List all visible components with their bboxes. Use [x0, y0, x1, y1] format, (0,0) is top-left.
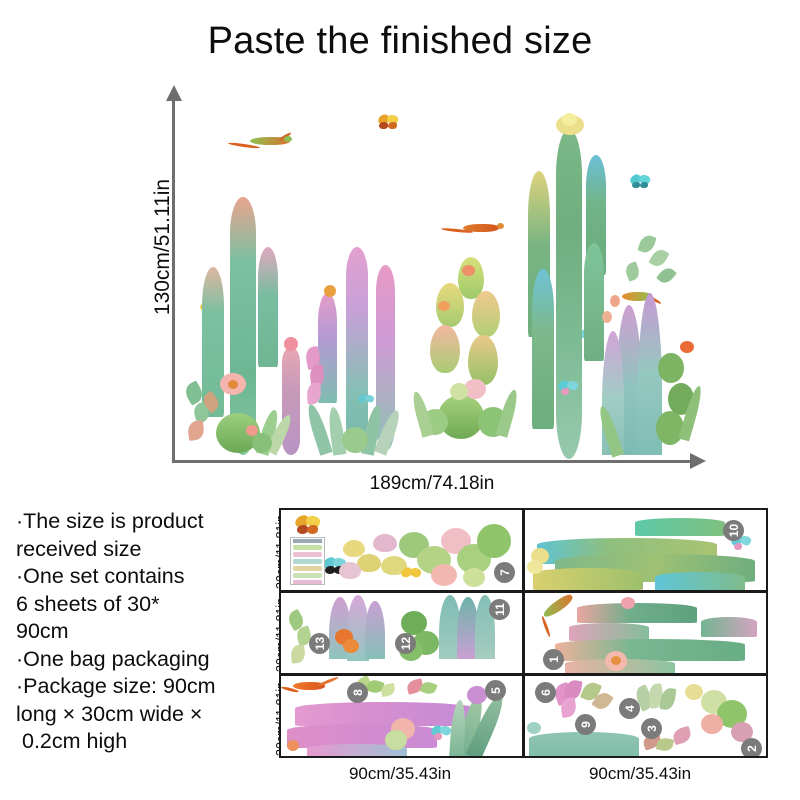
- product-info-text: ·The size is product received size ·One …: [16, 508, 266, 756]
- sheet-badge: 1: [543, 649, 564, 670]
- sheet-badge: 4: [619, 698, 640, 719]
- sheet-width-label: 90cm/35.43in: [300, 764, 500, 784]
- info-line: 6 sheets of 30*: [16, 591, 266, 619]
- preview-thumbnail-icon: [290, 537, 325, 585]
- info-line: ·One set contains: [16, 563, 266, 591]
- info-line: ·Package size: 90cm: [16, 673, 266, 701]
- page-title: Paste the finished size: [0, 20, 800, 63]
- sheet-badge: 9: [575, 714, 596, 735]
- sheet-7[interactable]: 7: [281, 510, 522, 590]
- cactus-group-pink: [306, 247, 426, 459]
- sheet-width-label: 90cm/35.43in: [540, 764, 740, 784]
- horizontal-axis-line: [172, 460, 694, 463]
- info-line: 0.2cm high: [16, 728, 266, 756]
- sheet-badge: 7: [494, 562, 515, 583]
- sheet-badge: 5: [485, 680, 506, 701]
- info-line: received size: [16, 536, 266, 564]
- sheets-layout-grid: 7 10 13 12 11: [279, 508, 768, 758]
- info-line: ·The size is product: [16, 508, 266, 536]
- sheet-badge: 13: [309, 633, 330, 654]
- sheet-10[interactable]: 10: [525, 510, 766, 590]
- sheet-badge: 8: [347, 682, 368, 703]
- cactus-group-left: [186, 197, 316, 459]
- info-line: long × 30cm wide ×: [16, 701, 266, 729]
- vertical-dimension-label: 130cm/51.11in: [151, 162, 175, 332]
- cactus-group-right: [602, 235, 698, 459]
- sheet-11-12-13[interactable]: 13 12 11: [281, 593, 522, 673]
- sheet-badge: 6: [535, 682, 556, 703]
- sheet-5-8[interactable]: 8 5: [281, 676, 522, 756]
- sheet-badge: 12: [395, 633, 416, 654]
- cactus-scene-illustration: [178, 97, 694, 459]
- finished-size-diagram: 130cm/51.11in 189cm/74.18in: [130, 85, 710, 490]
- sheet-1[interactable]: 1: [525, 593, 766, 673]
- sheet-2-3-4-6-9[interactable]: 6 9 4 3 2: [525, 676, 766, 756]
- info-line: 90cm: [16, 618, 266, 646]
- info-line: ·One bag packaging: [16, 646, 266, 674]
- sheet-badge: 10: [723, 520, 744, 541]
- sheet-badge: 2: [741, 738, 762, 756]
- sheet-badge: 11: [489, 599, 510, 620]
- horizontal-dimension-label: 189cm/74.18in: [172, 473, 692, 495]
- sheet-badge: 3: [641, 718, 662, 739]
